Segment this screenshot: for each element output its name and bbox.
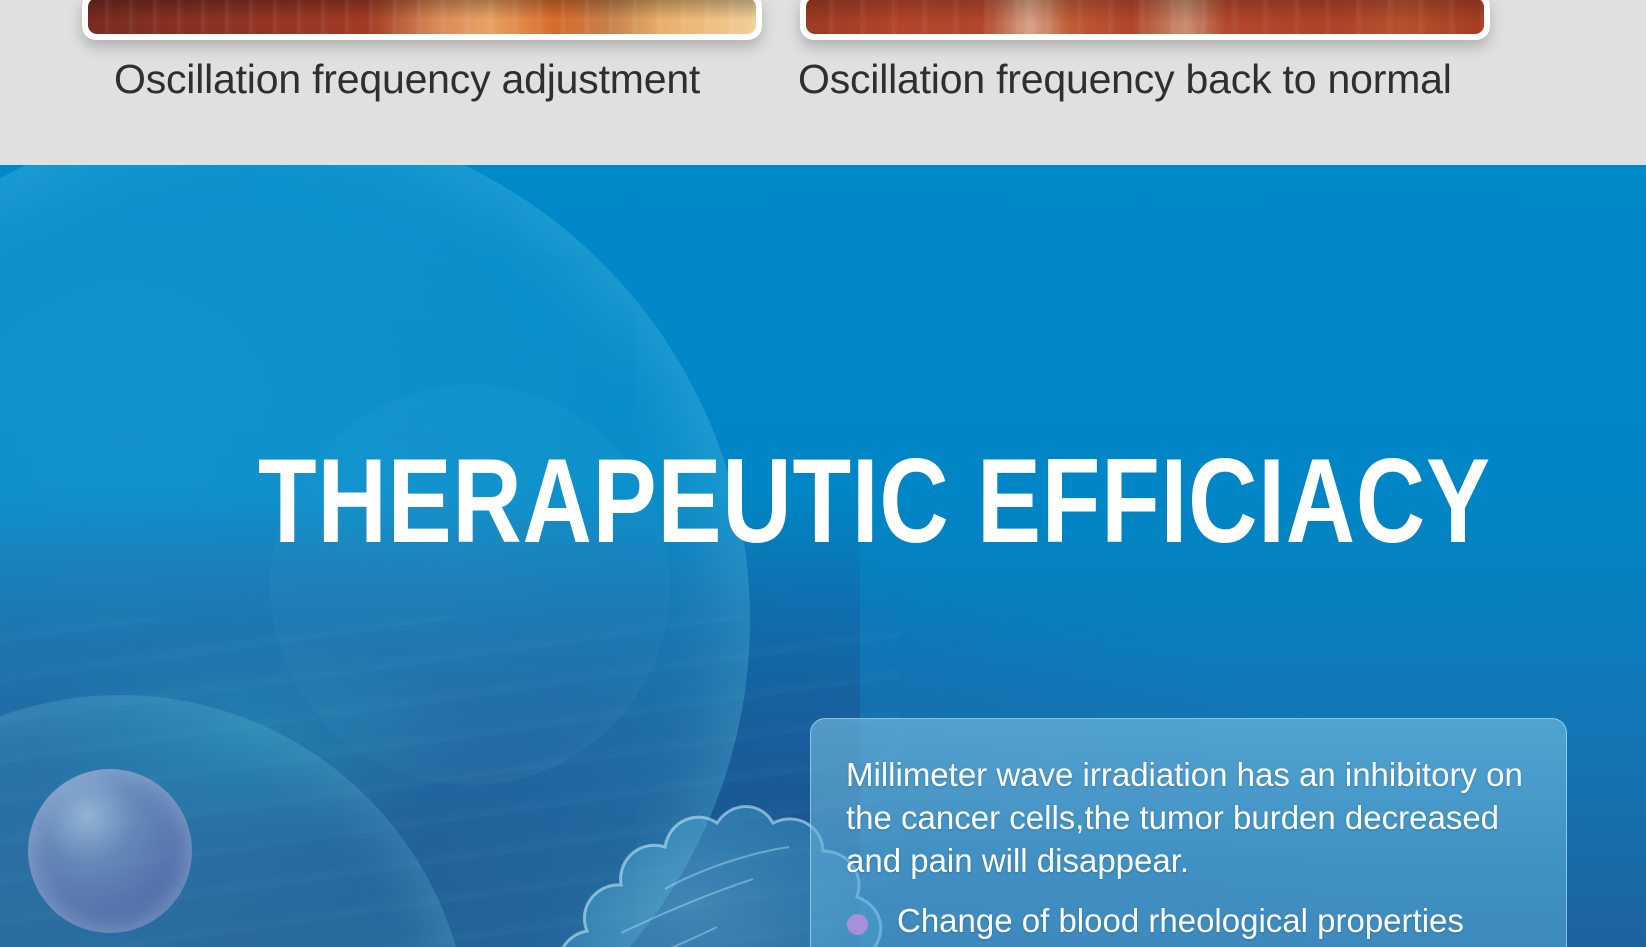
purple-cell-icon: [28, 769, 192, 933]
image-card-oscillation-adjustment[interactable]: [82, 0, 762, 40]
therapeutic-efficacy-panel: Millimeter wave irradiation has an inhib…: [810, 718, 1567, 947]
bullet-dot-icon: [847, 914, 868, 935]
slide: Oscillation frequency adjustment Oscilla…: [0, 0, 1646, 947]
header-strip: Oscillation frequency adjustment Oscilla…: [0, 0, 1646, 165]
caption-oscillation-normal: Oscillation frequency back to normal: [798, 56, 1452, 103]
bullet-label: Change of blood rheological properties: [897, 902, 1464, 939]
caption-oscillation-adjustment: Oscillation frequency adjustment: [114, 56, 700, 103]
image-card-oscillation-normal[interactable]: [800, 0, 1490, 40]
panel-intro-text: Millimeter wave irradiation has an inhib…: [846, 753, 1536, 882]
list-item: Change of blood rheological properties: [811, 899, 1566, 942]
thermal-tissue-photo-adjustment-icon: [88, 0, 756, 34]
thermal-tissue-photo-normal-icon: [806, 0, 1484, 34]
page-title: THERAPEUTIC EFFICIACY: [258, 441, 1491, 561]
main-blue-section: THERAPEUTIC EFFICIACY Millimeter wave ir…: [0, 165, 1646, 947]
benefit-bullet-list: Change of blood rheological properties S…: [811, 899, 1566, 947]
